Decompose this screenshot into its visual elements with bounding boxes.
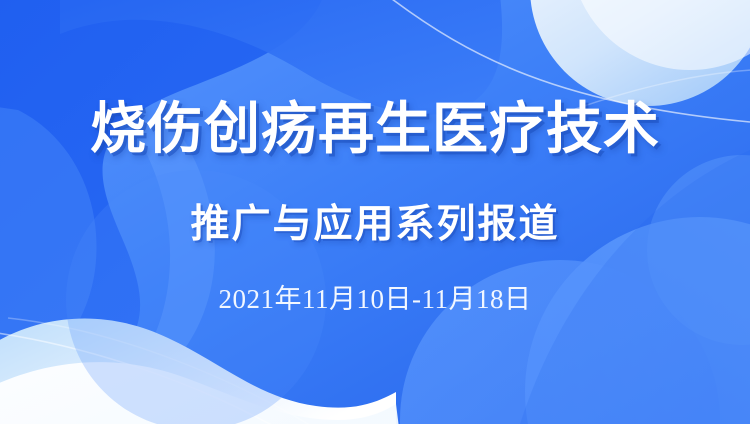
promo-banner: 烧伤创疡再生医疗技术 推广与应用系列报道 2021年11月10日-11月18日 — [0, 0, 750, 424]
tone-circle-center-left — [66, 170, 326, 424]
background-artwork — [0, 0, 750, 424]
